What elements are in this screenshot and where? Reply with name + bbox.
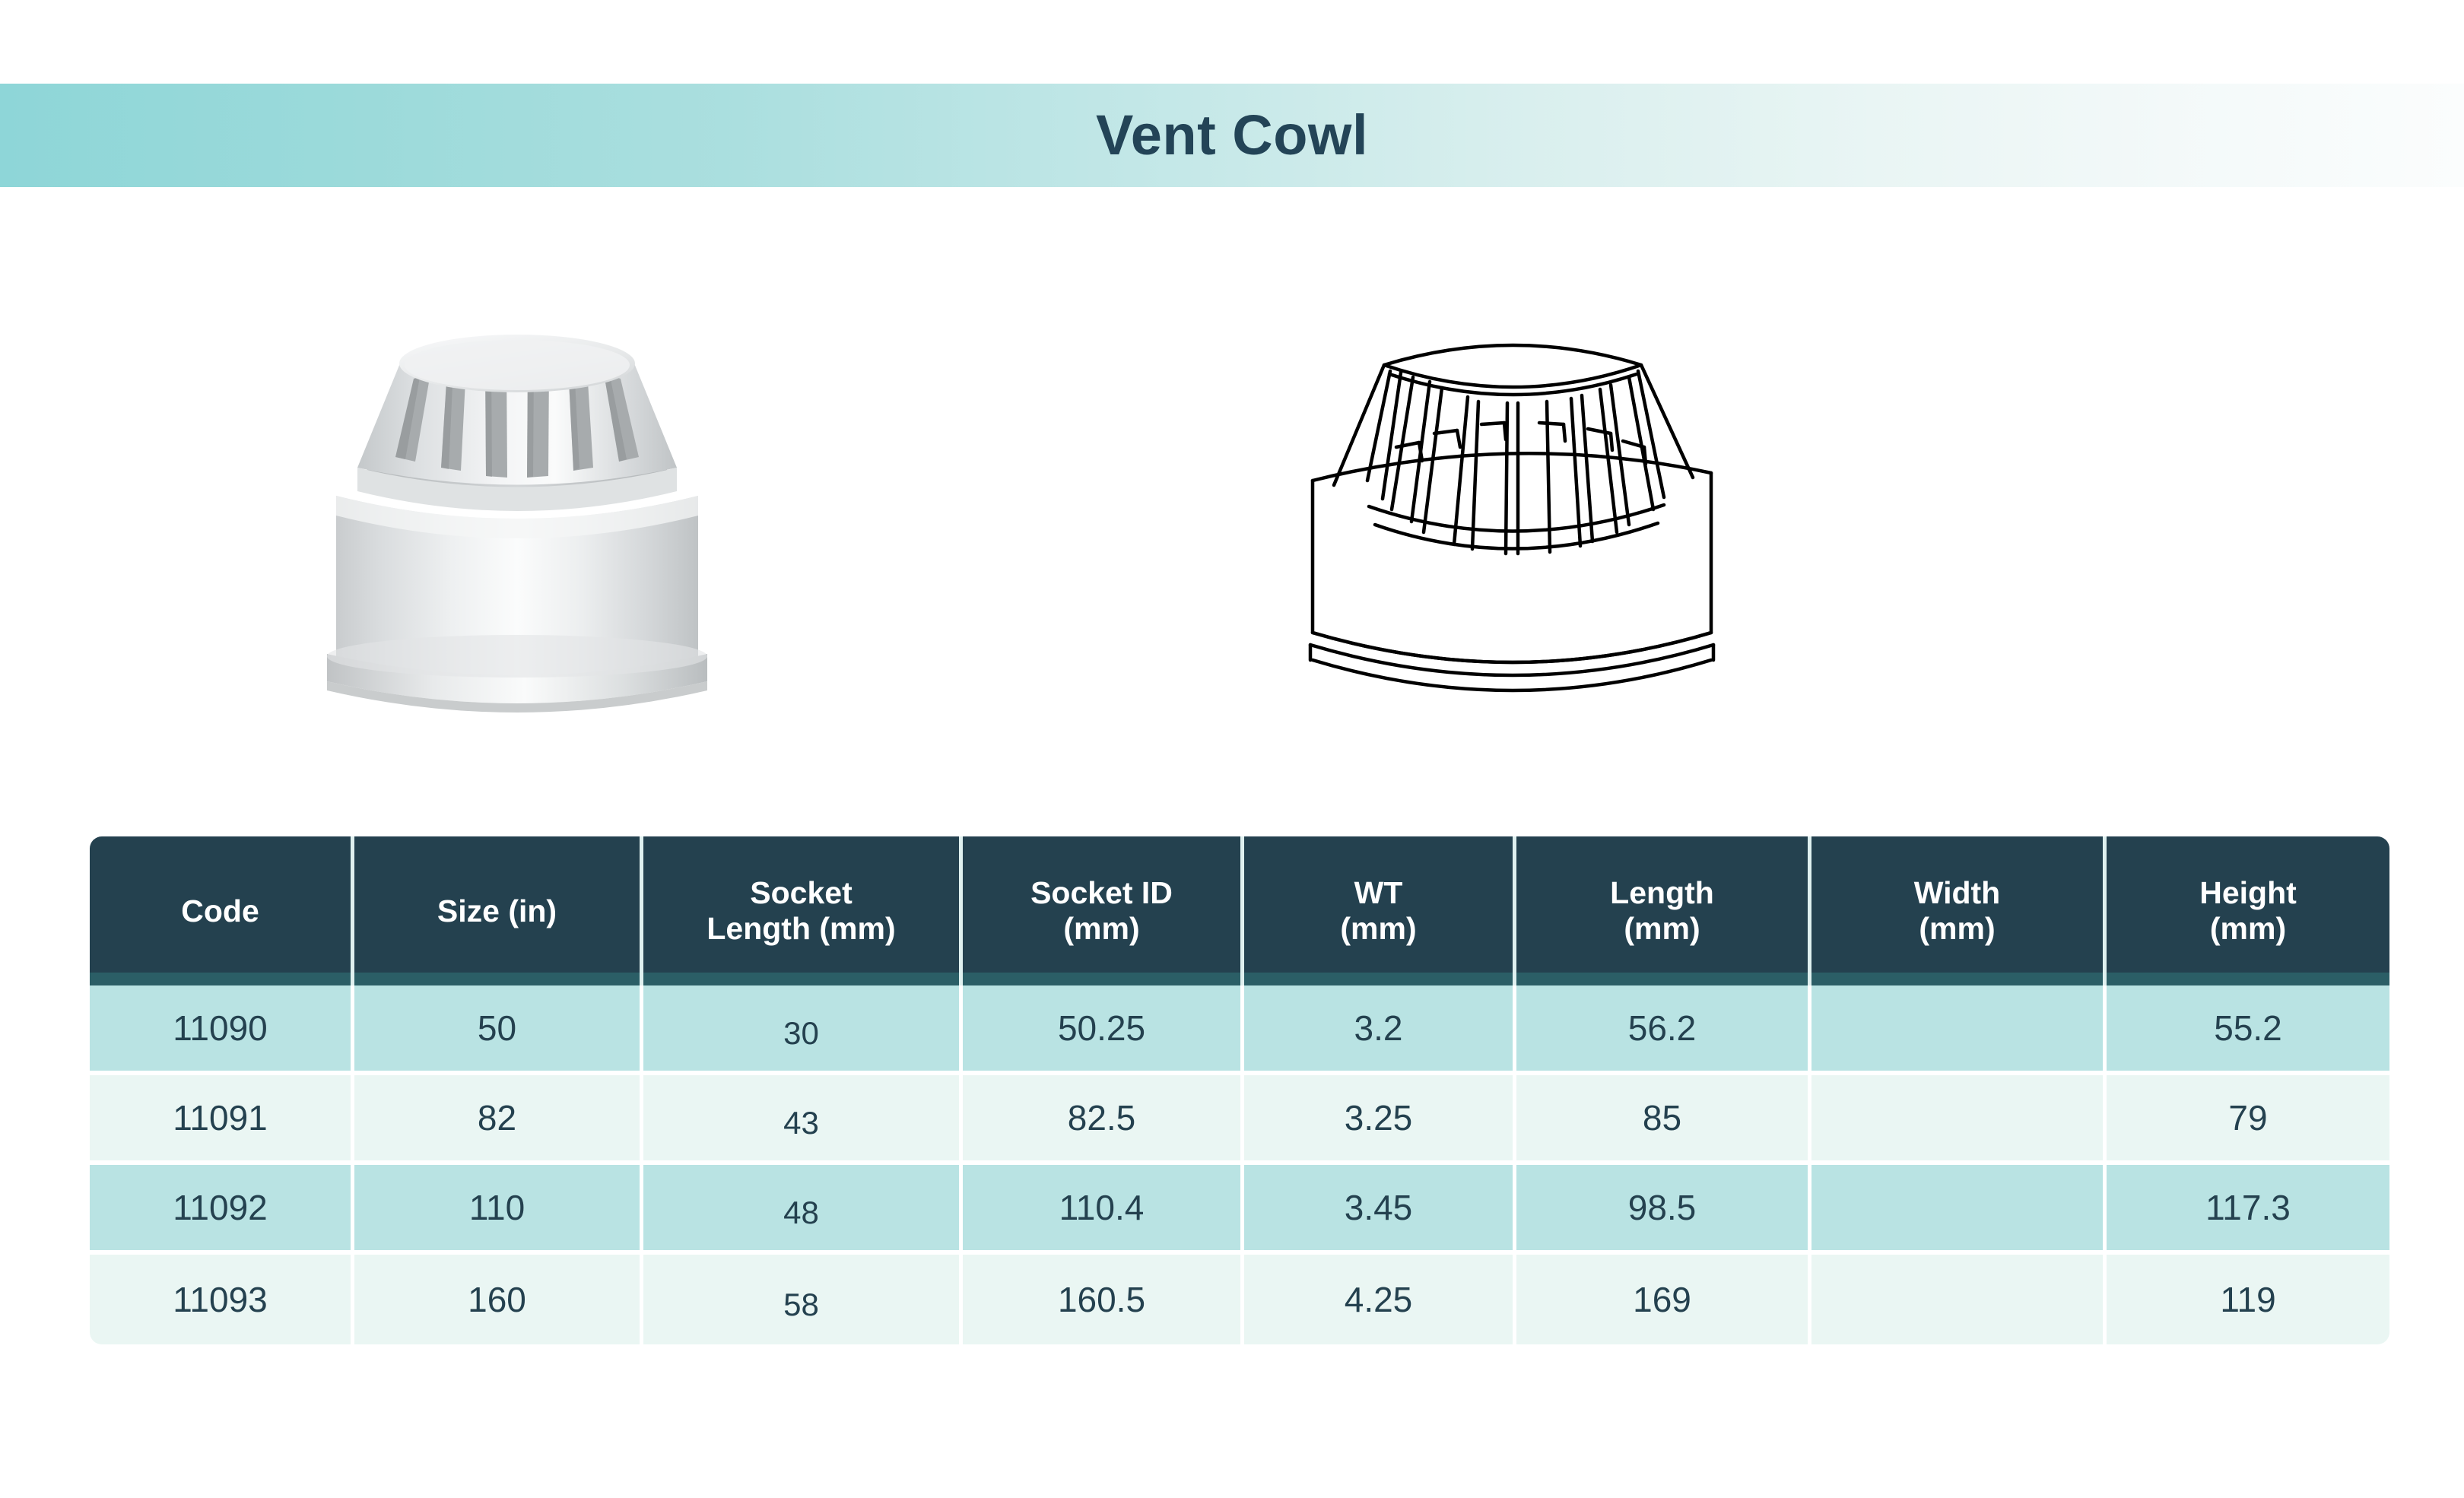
column-header-code[interactable]: Code xyxy=(90,836,354,985)
vent-cowl-line-drawing xyxy=(1285,281,1742,745)
cell-code: 11092 xyxy=(90,1165,354,1255)
column-header-length-line2: (mm) xyxy=(1516,911,1808,947)
column-header-socket-length-line1: Socket xyxy=(643,875,959,911)
cell-height: 79 xyxy=(2107,1075,2389,1165)
cell-code: 11091 xyxy=(90,1075,354,1165)
cell-socket-id: 110.4 xyxy=(963,1165,1244,1255)
cell-socket-length: 43 xyxy=(643,1075,963,1165)
vent-cowl-product-photo xyxy=(251,274,783,745)
column-header-socket-id-line1: Socket ID xyxy=(963,875,1240,911)
cell-socket-id: 50.25 xyxy=(963,985,1244,1075)
column-header-socket-length[interactable]: Socket Length (mm) xyxy=(643,836,963,985)
column-header-height[interactable]: Height (mm) xyxy=(2107,836,2389,985)
cell-width xyxy=(1811,1255,2107,1344)
table-row[interactable]: 11092 110 48 110.4 3.45 98.5 117.3 xyxy=(90,1165,2389,1255)
cell-width xyxy=(1811,1165,2107,1255)
table-header: Code Size (in) Socket Length (mm) Socket… xyxy=(90,836,2389,985)
table-body: 11090 50 30 50.25 3.2 56.2 55.2 11091 82… xyxy=(90,985,2389,1344)
cell-socket-length: 58 xyxy=(643,1255,963,1344)
table-row[interactable]: 11093 160 58 160.5 4.25 169 119 xyxy=(90,1255,2389,1344)
column-header-socket-id[interactable]: Socket ID (mm) xyxy=(963,836,1244,985)
column-header-size[interactable]: Size (in) xyxy=(354,836,643,985)
cell-width xyxy=(1811,1075,2107,1165)
cell-size: 160 xyxy=(354,1255,643,1344)
column-header-width-line1: Width xyxy=(1811,875,2103,911)
column-header-socket-length-line2: Length (mm) xyxy=(643,911,959,947)
column-header-height-line1: Height xyxy=(2107,875,2389,911)
column-header-length[interactable]: Length (mm) xyxy=(1516,836,1811,985)
table-row[interactable]: 11091 82 43 82.5 3.25 85 79 xyxy=(90,1075,2389,1165)
table-row[interactable]: 11090 50 30 50.25 3.2 56.2 55.2 xyxy=(90,985,2389,1075)
cell-size: 50 xyxy=(354,985,643,1075)
cell-size: 110 xyxy=(354,1165,643,1255)
cell-wt: 3.25 xyxy=(1244,1075,1516,1165)
cell-code: 11090 xyxy=(90,985,354,1075)
column-header-wt-line1: WT xyxy=(1244,875,1513,911)
cell-height: 55.2 xyxy=(2107,985,2389,1075)
cell-socket-length: 48 xyxy=(643,1165,963,1255)
column-header-width-line2: (mm) xyxy=(1811,911,2103,947)
cell-height: 117.3 xyxy=(2107,1165,2389,1255)
cell-socket-id: 82.5 xyxy=(963,1075,1244,1165)
column-header-wt-line2: (mm) xyxy=(1244,911,1513,947)
product-image-area xyxy=(0,228,2464,791)
column-header-length-line1: Length xyxy=(1516,875,1808,911)
cell-height: 119 xyxy=(2107,1255,2389,1344)
cell-socket-length: 30 xyxy=(643,985,963,1075)
cell-width xyxy=(1811,985,2107,1075)
table-header-row: Code Size (in) Socket Length (mm) Socket… xyxy=(90,836,2389,985)
cell-length: 85 xyxy=(1516,1075,1811,1165)
column-header-width[interactable]: Width (mm) xyxy=(1811,836,2107,985)
cell-length: 56.2 xyxy=(1516,985,1811,1075)
cell-socket-id: 160.5 xyxy=(963,1255,1244,1344)
cell-wt: 4.25 xyxy=(1244,1255,1516,1344)
page-title: Vent Cowl xyxy=(1096,107,1368,163)
specification-table: Code Size (in) Socket Length (mm) Socket… xyxy=(90,836,2389,1344)
column-header-socket-id-line2: (mm) xyxy=(963,911,1240,947)
column-header-wt[interactable]: WT (mm) xyxy=(1244,836,1516,985)
cell-length: 98.5 xyxy=(1516,1165,1811,1255)
column-header-height-line2: (mm) xyxy=(2107,911,2389,947)
cell-wt: 3.2 xyxy=(1244,985,1516,1075)
column-header-size-line1: Size (in) xyxy=(354,893,640,929)
title-banner: Vent Cowl xyxy=(0,84,2464,187)
cell-length: 169 xyxy=(1516,1255,1811,1344)
column-header-code-line1: Code xyxy=(90,893,351,929)
cell-wt: 3.45 xyxy=(1244,1165,1516,1255)
cell-code: 11093 xyxy=(90,1255,354,1344)
cell-size: 82 xyxy=(354,1075,643,1165)
